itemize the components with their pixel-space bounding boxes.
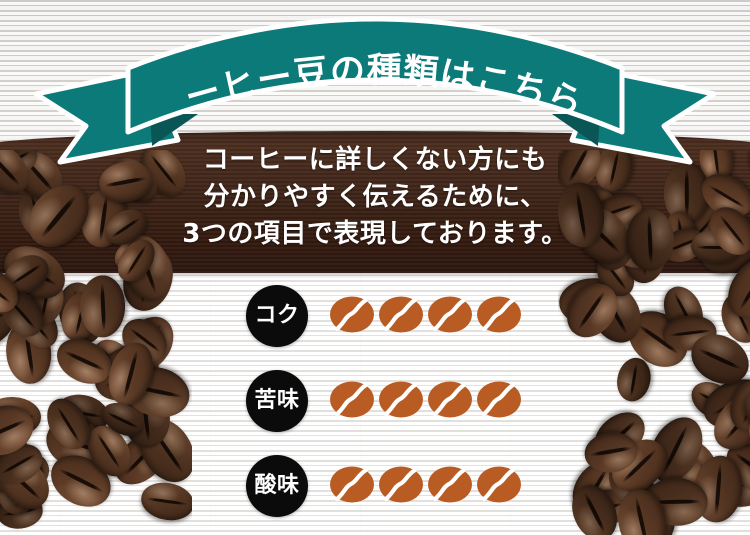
rating-bean-scale: [329, 380, 525, 424]
coffee-bean-icon: [476, 295, 522, 334]
coffee-bean-icon: [329, 295, 375, 334]
rating-row: コク: [0, 285, 750, 370]
rating-bean-scale: [329, 295, 525, 339]
rating-rows: コク苦味酸味: [0, 285, 750, 535]
promo-banner-canvas: コーヒー豆の種類はこちら! コーヒーに詳しくない方にも 分かりやすく伝えるために…: [0, 0, 750, 535]
coffee-bean-icon: [427, 380, 473, 419]
headline-line-3: 3つの項目で表現しております。: [0, 216, 750, 253]
ribbon-banner: コーヒー豆の種類はこちら!: [0, 22, 750, 147]
rating-row: 酸味: [0, 455, 750, 535]
rating-row: 苦味: [0, 370, 750, 455]
rating-label: 苦味: [254, 390, 299, 412]
coffee-bean-icon: [329, 465, 375, 504]
coffee-bean-icon: [329, 380, 375, 419]
coffee-bean-icon: [378, 380, 424, 419]
coffee-bean-icon: [476, 465, 522, 504]
coffee-bean-icon: [427, 465, 473, 504]
coffee-bean-icon: [427, 295, 473, 334]
rating-label-badge-1: 苦味: [246, 370, 308, 432]
headline-text: コーヒーに詳しくない方にも 分かりやすく伝えるために、 3つの項目で表現しており…: [0, 142, 750, 253]
rating-label-badge-2: 酸味: [246, 455, 308, 517]
rating-label-badge-0: コク: [246, 285, 308, 347]
rating-bean-scale: [329, 465, 525, 509]
headline-line-1: コーヒーに詳しくない方にも: [0, 142, 750, 179]
rating-label: 酸味: [254, 475, 299, 497]
coffee-bean-icon: [476, 380, 522, 419]
rating-label: コク: [254, 305, 299, 327]
coffee-bean-icon: [378, 295, 424, 334]
coffee-bean-icon: [378, 465, 424, 504]
headline-line-2: 分かりやすく伝えるために、: [0, 179, 750, 216]
